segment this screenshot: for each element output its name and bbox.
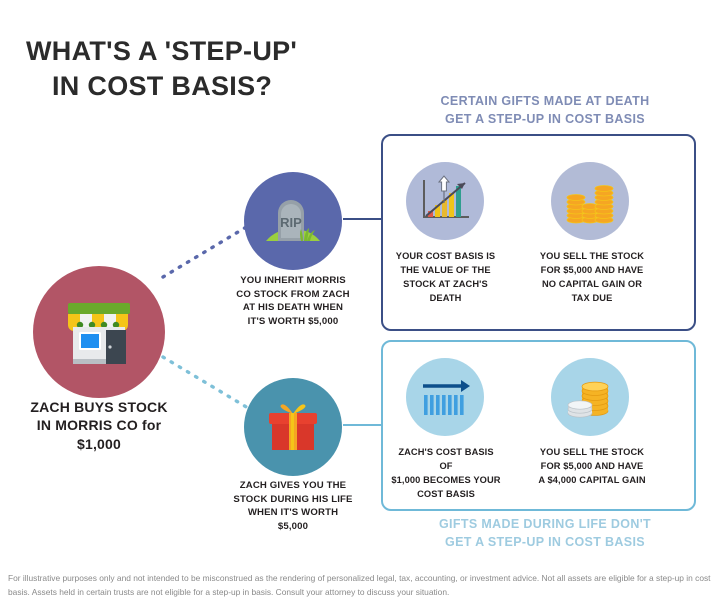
label-basis-life-line2: $1,000 BECOMES YOUR	[391, 474, 501, 488]
storefront-icon	[60, 297, 138, 367]
tombstone-icon: RIP	[260, 191, 326, 251]
label-sell-with-capital-gain: YOU SELL THE STOCK FOR $5,000 AND HAVE A…	[536, 446, 648, 488]
heading-life-line2: GET A STEP-UP IN COST BASIS	[380, 534, 710, 552]
caption-death-line2: CO STOCK FROM ZACH	[230, 288, 356, 302]
label-basis-death-line4: DEATH	[393, 292, 498, 306]
caption-death-line4: IT'S WORTH $5,000	[230, 315, 356, 329]
heading-death-line2: GET A STEP-UP IN COST BASIS	[380, 111, 710, 129]
label-cost-basis-carryover: ZACH'S COST BASIS OF $1,000 BECOMES YOUR…	[391, 446, 501, 502]
heading-life-line1: GIFTS MADE DURING LIFE DON'T	[439, 517, 651, 531]
label-sell-nogain-line3: NO CAPITAL GAIN OR	[538, 278, 646, 292]
caption-you-inherit-stock: YOU INHERIT MORRIS CO STOCK FROM ZACH AT…	[230, 274, 356, 328]
label-cost-basis-at-death: YOUR COST BASIS IS THE VALUE OF THE STOC…	[393, 250, 498, 306]
coin-stacks-icon	[563, 176, 617, 226]
caption-store-line1: ZACH BUYS STOCK	[24, 398, 174, 416]
label-sell-gain-line3: A $4,000 CAPITAL GAIN	[536, 474, 648, 488]
storefront-circle	[33, 266, 165, 398]
tombstone-rip-text: RIP	[280, 215, 302, 230]
page-title: WHAT'S A 'STEP-UP' IN COST BASIS?	[26, 34, 386, 103]
label-sell-nogain-line1: YOU SELL THE STOCK	[538, 250, 646, 264]
label-basis-life-line1: ZACH'S COST BASIS OF	[391, 446, 501, 474]
caption-store-line2: IN MORRIS CO for	[24, 416, 174, 434]
label-sell-no-capital-gain: YOU SELL THE STOCK FOR $5,000 AND HAVE N…	[538, 250, 646, 306]
infographic-canvas: WHAT'S A 'STEP-UP' IN COST BASIS? CERTAI…	[0, 0, 720, 614]
heading-gifts-at-death: CERTAIN GIFTS MADE AT DEATH GET A STEP-U…	[380, 93, 710, 129]
heading-gifts-during-life: GIFTS MADE DURING LIFE DON'T GET A STEP-…	[380, 516, 710, 552]
caption-death-line1: YOU INHERIT MORRIS	[230, 274, 356, 288]
growth-chart-circle	[406, 162, 484, 240]
flat-chart-circle	[406, 358, 484, 436]
flat-chart-arrow-icon	[418, 373, 472, 421]
label-sell-gain-line1: YOU SELL THE STOCK	[536, 446, 648, 460]
footer-line1: For illustrative purposes only and not i…	[8, 573, 606, 583]
caption-store-line3: $1,000	[24, 435, 174, 453]
gift-circle	[244, 378, 342, 476]
label-basis-death-line1: YOUR COST BASIS IS	[393, 250, 498, 264]
caption-death-line3: AT HIS DEATH WHEN	[230, 301, 356, 315]
connector-gift-to-panel	[342, 418, 384, 432]
page-title-line2: IN COST BASIS?	[26, 69, 386, 104]
coin-stacks-circle	[551, 162, 629, 240]
label-basis-death-line3: STOCK AT ZACH'S	[393, 278, 498, 292]
heading-death-line1: CERTAIN GIFTS MADE AT DEATH	[441, 94, 650, 108]
footer-disclaimer: For illustrative purposes only and not i…	[8, 572, 712, 599]
page-title-line1: WHAT'S A 'STEP-UP'	[26, 36, 297, 66]
caption-zach-buys-stock: ZACH BUYS STOCK IN MORRIS CO for $1,000	[24, 398, 174, 453]
coin-pile-circle	[551, 358, 629, 436]
label-basis-life-line3: COST BASIS	[391, 488, 501, 502]
growth-chart-icon	[417, 175, 473, 227]
label-sell-nogain-line4: TAX DUE	[538, 292, 646, 306]
caption-gift-line2: STOCK DURING HIS LIFE	[230, 493, 356, 507]
caption-gift-line4: $5,000	[230, 520, 356, 534]
connector-death-to-panel	[342, 212, 384, 226]
gift-icon	[261, 398, 325, 456]
caption-gift-line1: ZACH GIVES YOU THE	[230, 479, 356, 493]
label-sell-gain-line2: FOR $5,000 AND HAVE	[536, 460, 648, 474]
label-basis-death-line2: THE VALUE OF THE	[393, 264, 498, 278]
caption-gift-line3: WHEN IT'S WORTH	[230, 506, 356, 520]
label-sell-nogain-line2: FOR $5,000 AND HAVE	[538, 264, 646, 278]
tombstone-circle: RIP	[244, 172, 342, 270]
connector-store-to-death	[160, 220, 252, 282]
caption-zach-gives-stock: ZACH GIVES YOU THE STOCK DURING HIS LIFE…	[230, 479, 356, 533]
coin-pile-icon	[563, 373, 617, 421]
